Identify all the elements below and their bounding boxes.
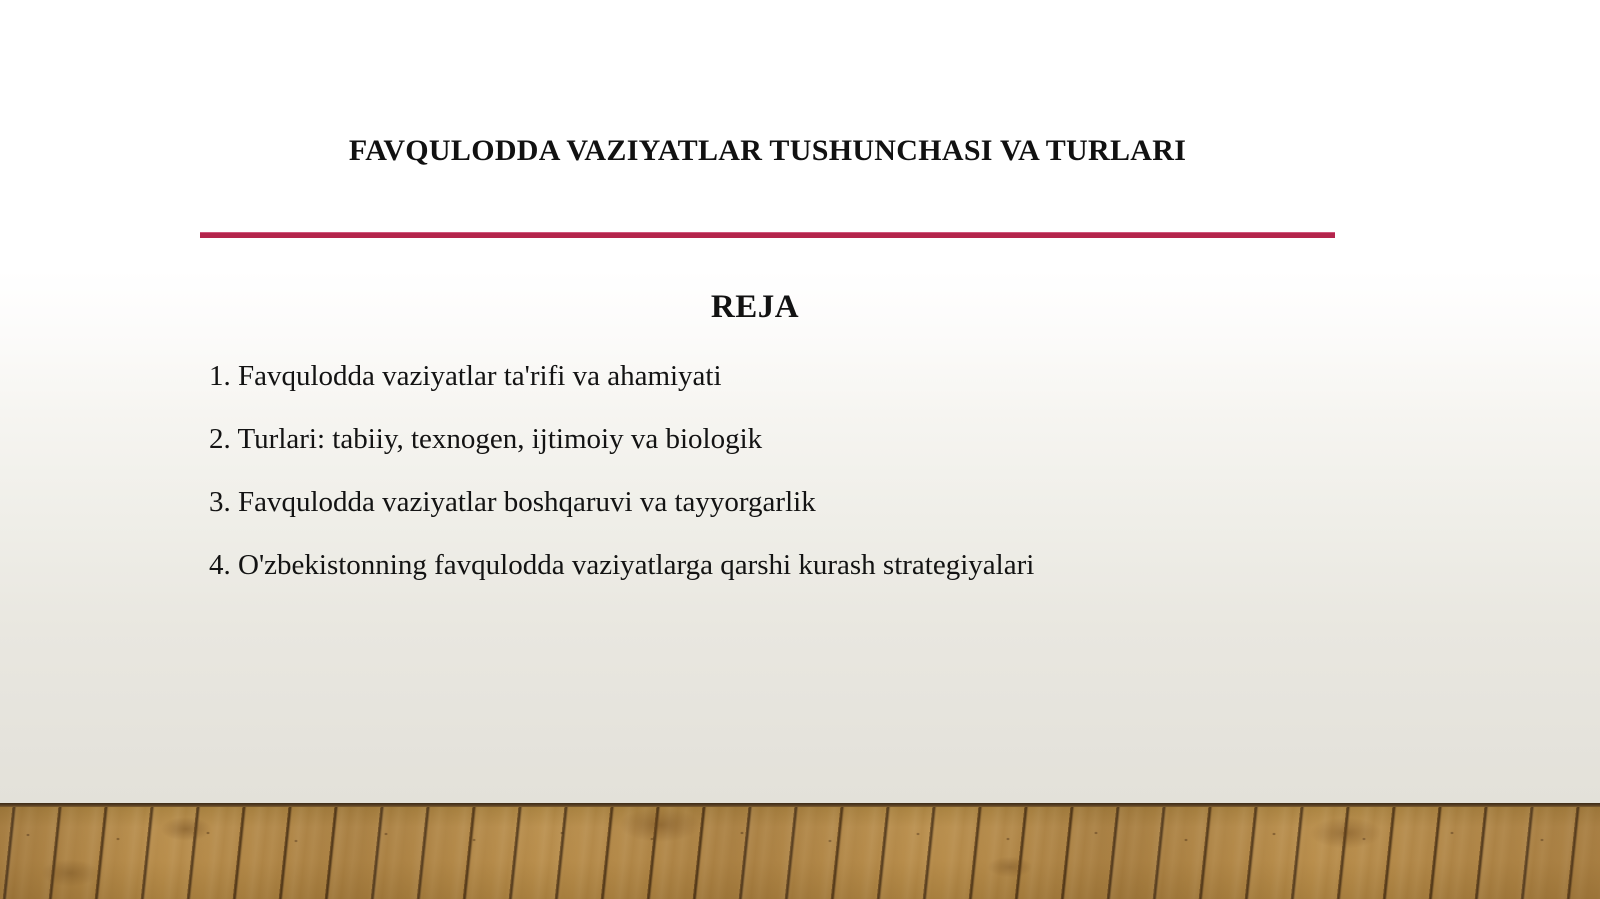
section-heading-reja: REJA [0, 286, 1510, 329]
list-item: 1. Favqulodda vaziyatlar ta'rifi va aham… [209, 362, 1509, 425]
list-item: 4. O'zbekistonning favqulodda vaziyatlar… [209, 551, 1509, 614]
floor-wall-seam [0, 803, 1600, 807]
list-item: 2. Turlari: tabiiy, texnogen, ijtimoiy v… [209, 425, 1509, 488]
agenda-list: 1. Favqulodda vaziyatlar ta'rifi va aham… [209, 362, 1509, 614]
slide-body: REJA 1. Favqulodda vaziyatlar ta'rifi va… [0, 286, 1600, 329]
page-title: FAVQULODDA VAZIYATLAR TUSHUNCHASI VA TUR… [200, 132, 1335, 170]
title-divider-rule [200, 232, 1335, 238]
floor-knots [0, 803, 1600, 899]
list-item: 3. Favqulodda vaziyatlar boshqaruvi va t… [209, 488, 1509, 551]
wooden-floor-decoration [0, 803, 1600, 899]
title-block: FAVQULODDA VAZIYATLAR TUSHUNCHASI VA TUR… [200, 132, 1335, 170]
presentation-slide: FAVQULODDA VAZIYATLAR TUSHUNCHASI VA TUR… [0, 0, 1600, 899]
